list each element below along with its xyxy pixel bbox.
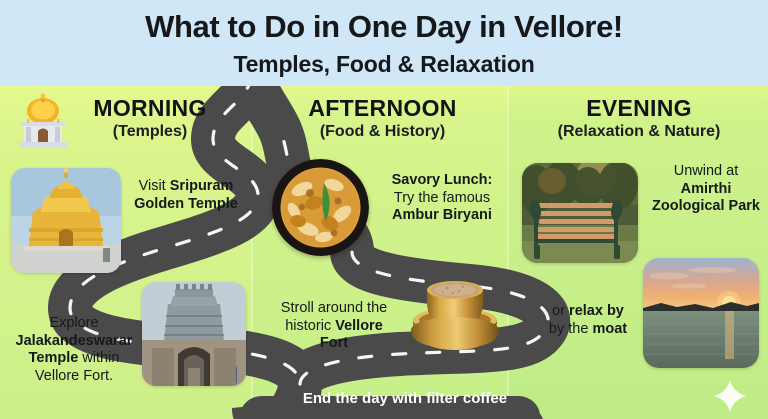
heading-afternoon-subtitle: (Food & History) (275, 120, 490, 141)
jalakandeswarar-temple-photo (142, 282, 246, 386)
sparkle-icon (712, 378, 748, 414)
heading-afternoon: AFTERNOON (Food & History) (275, 96, 490, 142)
caption-biryani-bold2: Ambur Biryani (392, 207, 492, 223)
caption-amirthi-bold1: Amirthi (681, 181, 732, 197)
caption-moat: or relax by by the moat (528, 303, 648, 338)
heading-morning-subtitle: (Temples) (60, 120, 240, 141)
heading-evening-subtitle: (Relaxation & Nature) (516, 120, 762, 141)
caption-sripuram: Visit Sripuram Golden Temple (126, 178, 246, 213)
caption-vellore-fort: Stroll around the historic Vellore Fort (268, 300, 400, 353)
caption-moat-mid: by the (549, 321, 593, 337)
heading-evening-title: EVENING (516, 96, 762, 120)
caption-jalakand-pre: Explore (49, 315, 98, 331)
column-divider-1 (251, 86, 253, 419)
caption-sripuram-bold: Sripuram (170, 178, 234, 194)
header-banner: What to Do in One Day in Vellore! Temple… (0, 0, 768, 86)
caption-fort-bold2: Fort (320, 335, 348, 351)
moat-lake-photo (643, 258, 759, 368)
caption-moat-bold1: relax by (569, 303, 624, 319)
heading-evening: EVENING (Relaxation & Nature) (516, 96, 762, 142)
caption-sripuram-bold2: Golden Temple (134, 196, 238, 212)
caption-fort-bold: Vellore (335, 318, 383, 334)
page-subtitle: Temples, Food & Relaxation (0, 42, 768, 78)
caption-biryani: Savory Lunch: Try the famous Ambur Birya… (378, 172, 506, 225)
caption-jalakand-bold2: Temple (29, 350, 79, 366)
caption-jalakandeswarar: Explore Jalakandeswarar Temple within Ve… (8, 315, 140, 386)
caption-amirthi-pre: Unwind at (674, 163, 738, 179)
caption-moat-pre: or (552, 303, 569, 319)
park-bench-photo (522, 163, 638, 263)
sripuram-golden-temple-photo (11, 168, 121, 273)
heading-morning-title: MORNING (60, 96, 240, 120)
caption-biryani-bold: Savory Lunch: (392, 172, 493, 188)
caption-jalakand-bold1: Jalakandeswarar (16, 333, 133, 349)
caption-fort-pre: Stroll around the (281, 300, 387, 316)
heading-afternoon-title: AFTERNOON (275, 96, 490, 120)
page-title: What to Do in One Day in Vellore! (0, 0, 768, 42)
caption-amirthi-bold2: Zoological Park (652, 198, 760, 214)
caption-fort-mid: historic (285, 318, 335, 334)
column-divider-2 (507, 86, 509, 419)
caption-sripuram-pre: Visit (139, 178, 170, 194)
infographic-canvas: What to Do in One Day in Vellore! Temple… (0, 0, 768, 419)
road-banner-text: End the day with filter coffee (285, 390, 525, 407)
caption-amirthi: Unwind at Amirthi Zoological Park (645, 163, 767, 216)
filter-coffee-photo (403, 262, 507, 356)
caption-jalakand-mid: within (78, 350, 119, 366)
caption-jalakand-post: Vellore Fort. (35, 368, 113, 384)
caption-biryani-mid: Try the famous (394, 190, 490, 206)
heading-morning: MORNING (Temples) (60, 96, 240, 142)
caption-moat-bold2: moat (592, 321, 627, 337)
ambur-biryani-photo (272, 159, 369, 256)
